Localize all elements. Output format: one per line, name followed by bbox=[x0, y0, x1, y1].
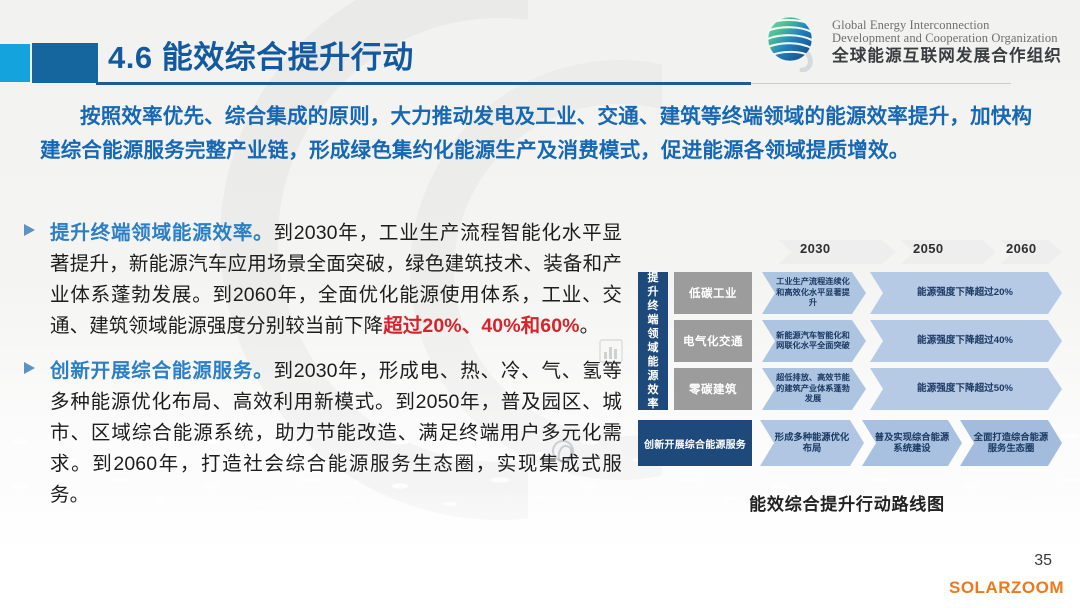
year-band-2030 bbox=[778, 240, 896, 264]
list-item: 提升终端领域能源效率。到2030年，工业生产流程智能化水平显著提升，新能源汽车应… bbox=[22, 218, 622, 342]
bullet-arrow-icon bbox=[24, 362, 35, 374]
outcome-cell: 能源强度下降超过40% bbox=[870, 320, 1062, 362]
list-item: 创新开展综合能源服务。到2030年，形成电、热、冷、气、氢等多种能源优化布局、高… bbox=[22, 356, 622, 511]
bullet-highlight: 超过20%、40%和60% bbox=[383, 315, 579, 337]
bottom-section-label: 创新开展综合能源服务 bbox=[638, 420, 752, 466]
sector-cell: 零碳建筑 bbox=[674, 368, 752, 410]
bullet-text: 创新开展综合能源服务。到2030年，形成电、热、冷、气、氢等多种能源优化布局、高… bbox=[50, 356, 622, 511]
bullet-text: 提升终端领域能源效率。到2030年，工业生产流程智能化水平显著提升，新能源汽车应… bbox=[50, 218, 622, 342]
diagram-row-low-carbon-industry: 低碳工业 工业生产流程连续化和高效化水平显著提升 能源强度下降超过20% bbox=[674, 272, 1062, 314]
milestone-cell: 新能源汽车智能化和网联化水平全面突破 bbox=[762, 320, 866, 362]
milestone-cell: 工业生产流程连续化和高效化水平显著提升 bbox=[762, 272, 866, 314]
header-accent-block-cyan bbox=[0, 44, 30, 82]
header-accent-block-blue bbox=[32, 43, 98, 83]
outcome-cell: 能源强度下降超过20% bbox=[870, 272, 1062, 314]
bullet-lead: 提升终端领域能源效率。 bbox=[50, 222, 273, 244]
bottom-step-2050: 普及实现综合能源系统建设 bbox=[862, 420, 962, 466]
diagram-section-label-vertical: 提升终端领域能源效率 bbox=[638, 272, 668, 410]
diagram-caption: 能效综合提升行动路线图 bbox=[632, 490, 1062, 515]
year-label-2060: 2060 bbox=[1006, 241, 1037, 256]
milestone-cell: 超低排放、高效节能的建筑产业体系蓬勃发展 bbox=[762, 368, 866, 410]
logo-english-line-1: Global Energy Interconnection bbox=[832, 19, 1062, 32]
diagram-row-electrified-transport: 电气化交通 新能源汽车智能化和网联化水平全面突破 能源强度下降超过40% bbox=[674, 320, 1062, 362]
logo-english-line-2: Development and Cooperation Organization bbox=[832, 32, 1062, 45]
intro-paragraph: 按照效率优先、综合集成的原则，大力推动发电及工业、交通、建筑等终端领域的能源效率… bbox=[40, 100, 1045, 168]
watermark-text: SOLARZOOM bbox=[949, 578, 1064, 598]
diagram-top-section: 提升终端领域能源效率 低碳工业 工业生产流程连续化和高效化水平显著提升 能源强度… bbox=[632, 272, 1062, 410]
logo-chinese-name: 全球能源互联网发展合作组织 bbox=[832, 48, 1062, 65]
year-label-2050: 2050 bbox=[913, 241, 944, 256]
sector-cell: 低碳工业 bbox=[674, 272, 752, 314]
roadmap-diagram: 2030 2050 2060 提升终端领域能源效率 低碳工业 工业生产流程连续化… bbox=[632, 236, 1062, 486]
bullet-list: 提升终端领域能源效率。到2030年，工业生产流程智能化水平显著提升，新能源汽车应… bbox=[22, 218, 622, 511]
diagram-bottom-section: 创新开展综合能源服务 形成多种能源优化布局 普及实现综合能源系统建设 全面打造综… bbox=[632, 420, 1062, 466]
bullet-arrow-icon bbox=[24, 224, 35, 236]
bullet-tail-text: 。 bbox=[580, 315, 600, 337]
organization-logo: Global Energy Interconnection Developmen… bbox=[762, 12, 1062, 72]
diagram-row-zero-carbon-building: 零碳建筑 超低排放、高效节能的建筑产业体系蓬勃发展 能源强度下降超过50% bbox=[674, 368, 1062, 410]
bottom-step-2030: 形成多种能源优化布局 bbox=[760, 420, 864, 466]
page-number: 35 bbox=[1034, 552, 1052, 570]
globe-logo-icon bbox=[762, 12, 822, 72]
diagram-year-header: 2030 2050 2060 bbox=[632, 236, 1062, 268]
outcome-cell: 能源强度下降超过50% bbox=[870, 368, 1062, 410]
bottom-step-2060: 全面打造综合能源服务生态圈 bbox=[960, 420, 1062, 466]
header-underline-light bbox=[751, 83, 1011, 84]
year-label-2030: 2030 bbox=[800, 241, 831, 256]
bullet-lead: 创新开展综合能源服务。 bbox=[50, 360, 273, 382]
sector-cell: 电气化交通 bbox=[674, 320, 752, 362]
page-title: 4.6 能效综合提升行动 bbox=[108, 32, 414, 77]
header-underline bbox=[96, 82, 751, 85]
